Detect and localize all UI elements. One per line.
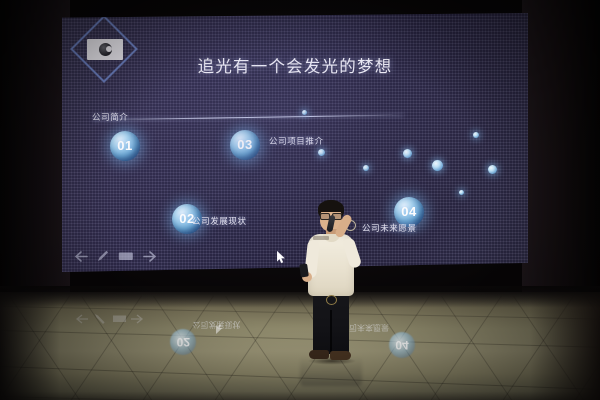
led-screen[interactable]: 追光有一个会发光的梦想 01公司简介02公司发展现状03公司项目推介04公司未来…	[62, 13, 528, 272]
glow-dot-icon	[363, 165, 369, 171]
stage-scene: 02公司发展现状04公司未来愿景 追光有一个会发光的梦想 01公司简介02公司发…	[0, 0, 600, 400]
agenda-label: 公司未来愿景	[362, 222, 417, 234]
glow-dot-icon	[403, 149, 412, 158]
cursor-reflection	[216, 318, 223, 336]
glow-dot-icon	[459, 190, 464, 195]
screen-display-icon[interactable]	[118, 251, 134, 262]
glow-dot-icon	[488, 165, 497, 174]
speaker-shoe-right	[330, 351, 351, 360]
floor-shadow-right	[530, 292, 600, 400]
speaker-belt-buckle	[326, 295, 337, 305]
glow-dot-icon	[318, 149, 325, 156]
glow-dot-icon	[432, 160, 443, 171]
pen-annotate-icon[interactable]	[97, 250, 109, 262]
speaker-shirt-text	[313, 236, 329, 240]
phone-icon	[299, 264, 309, 278]
slide-title: 追光有一个会发光的梦想	[62, 53, 528, 77]
speaker	[300, 200, 362, 368]
mouse-pointer-icon	[277, 251, 285, 269]
floor-shadow-left	[0, 292, 60, 400]
presentation-toolbar[interactable]	[75, 250, 156, 262]
toolbar-reflection	[75, 308, 155, 326]
glow-dot-icon	[473, 132, 479, 138]
agenda-label: 公司发展现状	[192, 215, 247, 227]
slide-light-beam	[94, 115, 404, 121]
agenda-number: 03	[230, 130, 260, 160]
agenda-number-reflection: 02	[170, 329, 196, 355]
agenda-label: 公司简介	[92, 111, 128, 123]
glow-dot-icon	[302, 110, 307, 115]
speaker-leg-split	[330, 310, 332, 354]
agenda-number-reflection: 04	[389, 332, 415, 358]
previous-arrow-icon[interactable]	[75, 251, 88, 262]
agenda-number: 01	[110, 131, 140, 161]
hall-wall-right	[522, 0, 600, 300]
slide-content: 追光有一个会发光的梦想 01公司简介02公司发展现状03公司项目推介04公司未来…	[62, 13, 528, 272]
agenda-label: 公司项目推介	[269, 135, 324, 147]
next-arrow-icon[interactable]	[143, 251, 156, 262]
speaker-shoe-left	[309, 350, 329, 359]
speaker-fringe	[318, 202, 344, 212]
hall-wall-left	[0, 0, 70, 300]
